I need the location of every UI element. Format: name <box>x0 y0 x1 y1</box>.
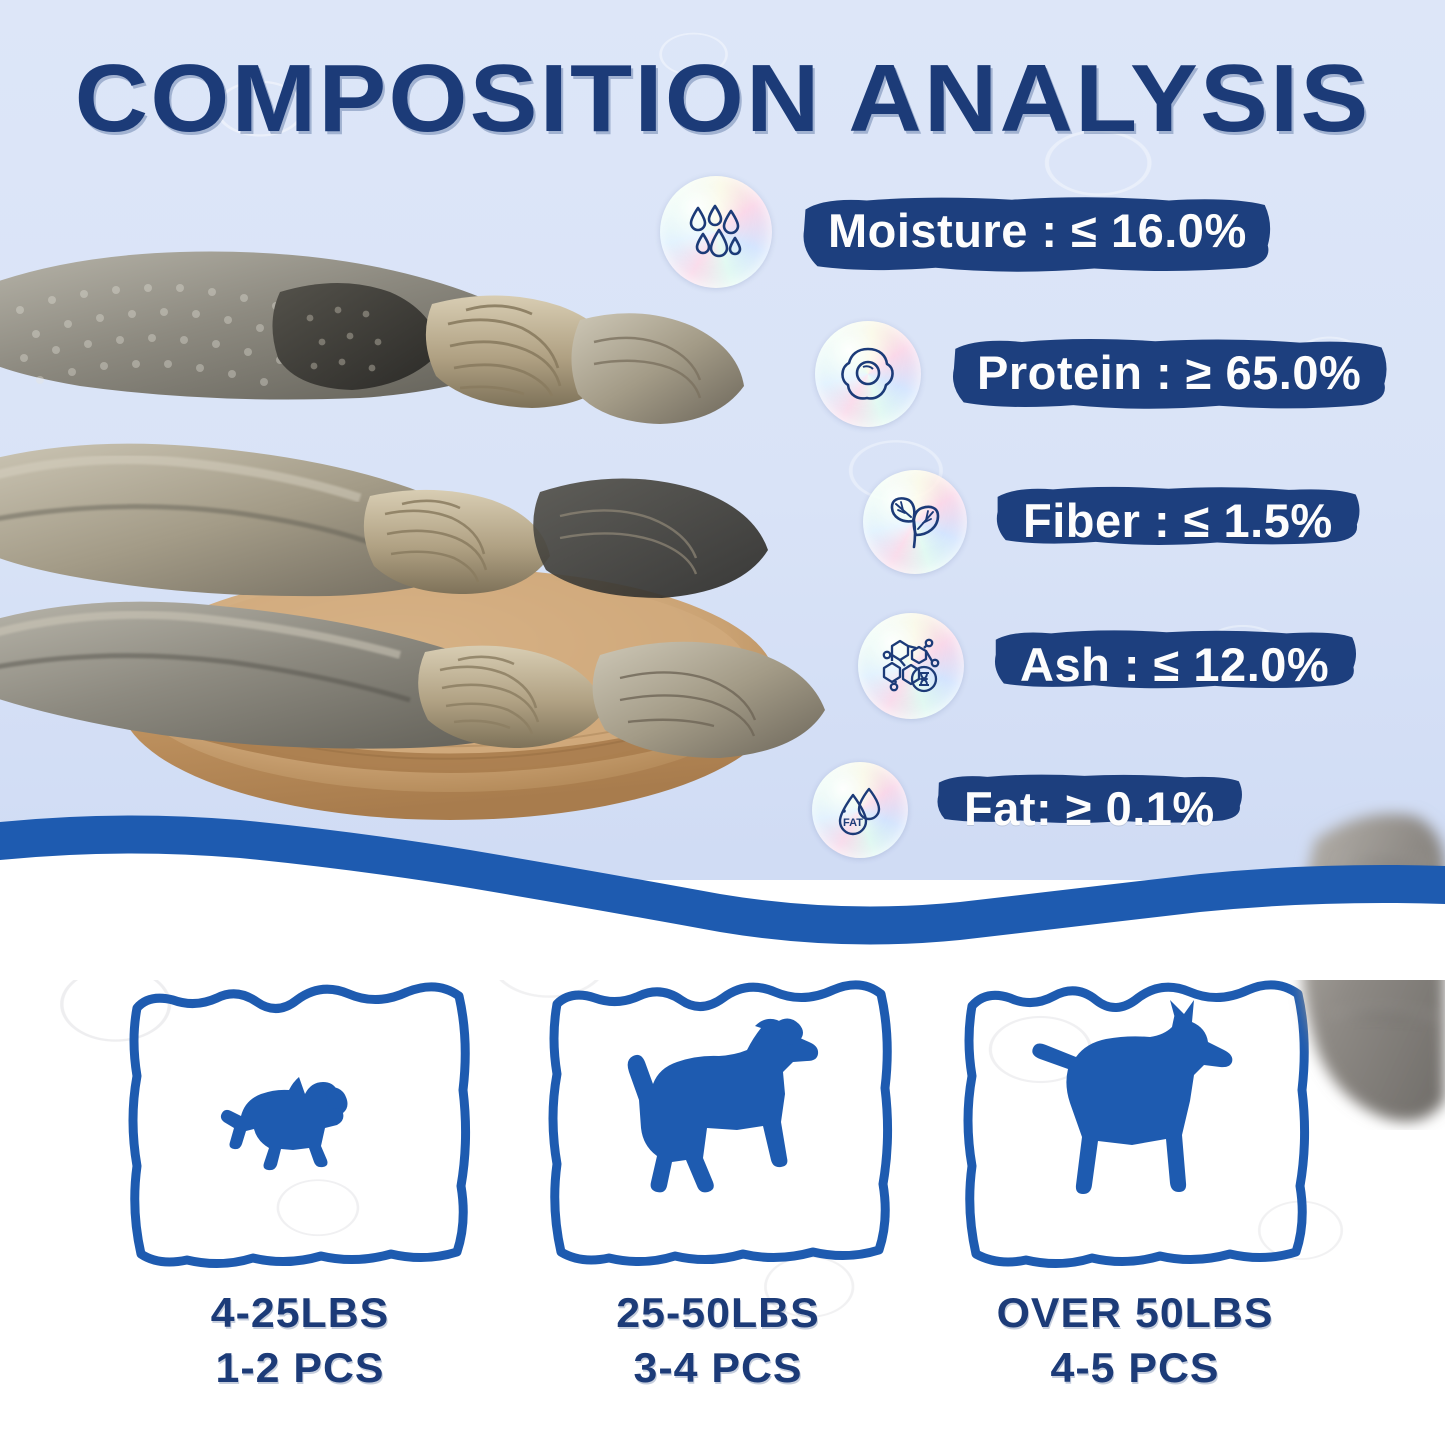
leaf-icon <box>863 470 967 574</box>
size-label-small-pieces: 1-2 PCS <box>116 1340 483 1395</box>
badge-moisture: Moisture : ≤ 16.0% <box>798 193 1277 272</box>
size-card-medium[interactable] <box>543 970 893 1270</box>
water-drops-icon <box>660 176 772 288</box>
size-label-large-pieces: 4-5 PCS <box>951 1340 1318 1395</box>
size-cards <box>0 970 1445 1300</box>
medium-dog-icon <box>628 1018 818 1192</box>
badge-ash-text: Ash : ≤ 12.0% <box>1020 637 1329 692</box>
badge-protein-text: Protein : ≥ 65.0% <box>977 345 1361 400</box>
badge-ash: Ash : ≤ 12.0% <box>990 627 1359 706</box>
small-dog-icon <box>221 1077 348 1170</box>
badge-moisture-text: Moisture : ≤ 16.0% <box>828 203 1247 258</box>
nutrition-row-moisture: Moisture : ≤ 16.0% <box>660 176 1277 288</box>
composition-analysis-infographic: COMPOSITION ANALYSIS Moisture : ≤ 16.0% <box>0 0 1445 1445</box>
nutrition-row-ash: Ash : ≤ 12.0% <box>858 610 1359 722</box>
nutrition-list: Moisture : ≤ 16.0% Protein : ≥ 65.0% <box>660 176 1445 856</box>
badge-fiber-text: Fiber : ≤ 1.5% <box>1023 493 1333 548</box>
size-label-medium-weight: 25-50LBS <box>534 1285 901 1340</box>
badge-fiber: Fiber : ≤ 1.5% <box>993 483 1363 562</box>
size-label-large-weight: OVER 50LBS <box>951 1285 1318 1340</box>
size-label-small: 4-25LBS 1-2 PCS <box>116 1285 483 1396</box>
fat-drop-icon: FAT <box>812 762 908 858</box>
size-label-large: OVER 50LBS 4-5 PCS <box>951 1285 1318 1396</box>
size-labels: 4-25LBS 1-2 PCS 25-50LBS 3-4 PCS OVER 50… <box>0 1285 1445 1425</box>
fish-skin-roll-middle <box>0 444 768 598</box>
nutrition-row-protein: Protein : ≥ 65.0% <box>815 318 1391 430</box>
badge-protein: Protein : ≥ 65.0% <box>947 335 1391 414</box>
size-card-small[interactable] <box>125 970 475 1270</box>
size-label-medium-pieces: 3-4 PCS <box>534 1340 901 1395</box>
page-title: COMPOSITION ANALYSIS <box>0 44 1445 154</box>
egg-icon <box>815 321 921 427</box>
fish-skin-roll-top <box>0 252 744 424</box>
nutrition-row-fiber: Fiber : ≤ 1.5% <box>863 466 1363 578</box>
nutrition-row-fat: FAT Fat: ≥ 0.1% <box>812 754 1245 866</box>
flesh-texture-b <box>364 490 550 594</box>
size-label-small-weight: 4-25LBS <box>116 1285 483 1340</box>
molecule-icon <box>858 613 964 719</box>
svg-text:FAT: FAT <box>843 817 863 829</box>
badge-fat: Fat: ≥ 0.1% <box>934 771 1245 850</box>
size-card-large[interactable] <box>960 970 1310 1270</box>
size-label-medium: 25-50LBS 3-4 PCS <box>534 1285 901 1396</box>
large-dog-icon <box>1032 1000 1232 1194</box>
badge-fat-text: Fat: ≥ 0.1% <box>964 781 1215 836</box>
